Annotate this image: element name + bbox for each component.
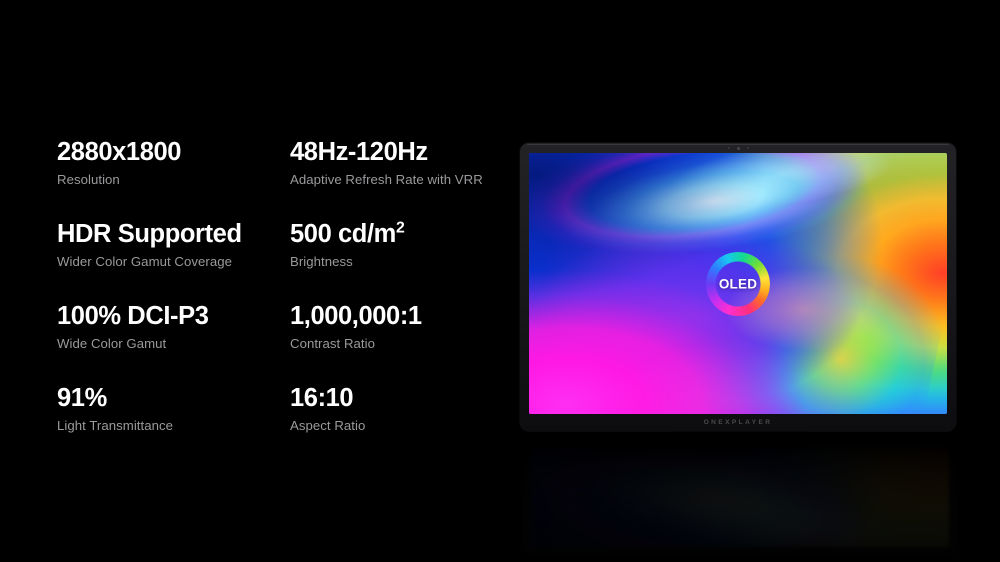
monitor-stage: OLED ONEXPLAYER xyxy=(520,143,960,533)
reflection-magenta-layer xyxy=(531,439,949,547)
spec-label: Contrast Ratio xyxy=(290,336,507,352)
sensor-dot-icon xyxy=(747,147,749,149)
spec-item-brightness: 500 cd/m2 Brightness xyxy=(290,219,507,301)
reflection-base-layer xyxy=(531,439,949,547)
spec-label: Wider Color Gamut Coverage xyxy=(57,254,290,270)
spec-value: 48Hz-120Hz xyxy=(290,137,507,167)
spec-label: Wide Color Gamut xyxy=(57,336,290,352)
spec-item-resolution: 2880x1800 Resolution xyxy=(57,137,290,219)
spec-item-aspect-ratio: 16:10 Aspect Ratio xyxy=(290,383,507,465)
spec-label: Light Transmittance xyxy=(57,418,290,434)
monitor-top-bezel xyxy=(520,143,956,153)
monitor-reflection: ONEXPLAYER xyxy=(522,439,958,557)
brand-logo: ONEXPLAYER xyxy=(704,419,773,426)
monitor-bottom-bezel: ONEXPLAYER xyxy=(520,414,956,431)
spec-grid: 2880x1800 Resolution 48Hz-120Hz Adaptive… xyxy=(57,137,507,465)
monitor-screen: OLED xyxy=(529,153,947,414)
reflection-blue-layer xyxy=(531,439,949,547)
spec-item-light-transmittance: 91% Light Transmittance xyxy=(57,383,290,465)
spec-item-hdr: HDR Supported Wider Color Gamut Coverage xyxy=(57,219,290,301)
reflection-ribbon-edge xyxy=(531,439,949,547)
spec-value-text: 500 cd/m xyxy=(290,220,396,248)
monitor-contact-shadow xyxy=(530,431,950,447)
slide-root: 2880x1800 Resolution 48Hz-120Hz Adaptive… xyxy=(0,0,1000,562)
spec-label: Resolution xyxy=(57,172,290,188)
monitor-device: OLED ONEXPLAYER xyxy=(520,143,956,431)
spec-value: HDR Supported xyxy=(57,219,290,249)
reflection-warm-layer xyxy=(531,439,949,547)
reflection-vignette xyxy=(531,439,949,547)
spec-label: Adaptive Refresh Rate with VRR xyxy=(290,172,507,188)
spec-value: 1,000,000:1 xyxy=(290,301,507,331)
monitor-reflection-device: ONEXPLAYER xyxy=(522,439,958,557)
spec-item-refresh-rate: 48Hz-120Hz Adaptive Refresh Rate with VR… xyxy=(290,137,507,219)
spec-label: Brightness xyxy=(290,254,507,270)
reflection-violet-layer xyxy=(531,439,949,547)
reflection-fade-overlay xyxy=(520,439,960,562)
spec-item-color-gamut: 100% DCI-P3 Wide Color Gamut xyxy=(57,301,290,383)
monitor-reflection-top-bezel xyxy=(522,547,958,557)
spec-label: Aspect Ratio xyxy=(290,418,507,434)
sensor-dot-icon xyxy=(728,147,730,149)
reflection-ribbon-layer xyxy=(531,439,949,547)
spec-value: 100% DCI-P3 xyxy=(57,301,290,331)
spec-value-superscript: 2 xyxy=(396,220,404,237)
monitor-reflection-screen xyxy=(531,439,949,547)
oled-badge: OLED xyxy=(706,252,770,316)
oled-badge-label: OLED xyxy=(719,276,757,291)
spec-value: 91% xyxy=(57,383,290,413)
spec-value: 16:10 xyxy=(290,383,507,413)
spec-value: 500 cd/m2 xyxy=(290,219,507,249)
spec-value: 2880x1800 xyxy=(57,137,290,167)
webcam-icon xyxy=(737,147,740,150)
spec-item-contrast-ratio: 1,000,000:1 Contrast Ratio xyxy=(290,301,507,383)
reflection-tongue-layer xyxy=(531,439,949,547)
